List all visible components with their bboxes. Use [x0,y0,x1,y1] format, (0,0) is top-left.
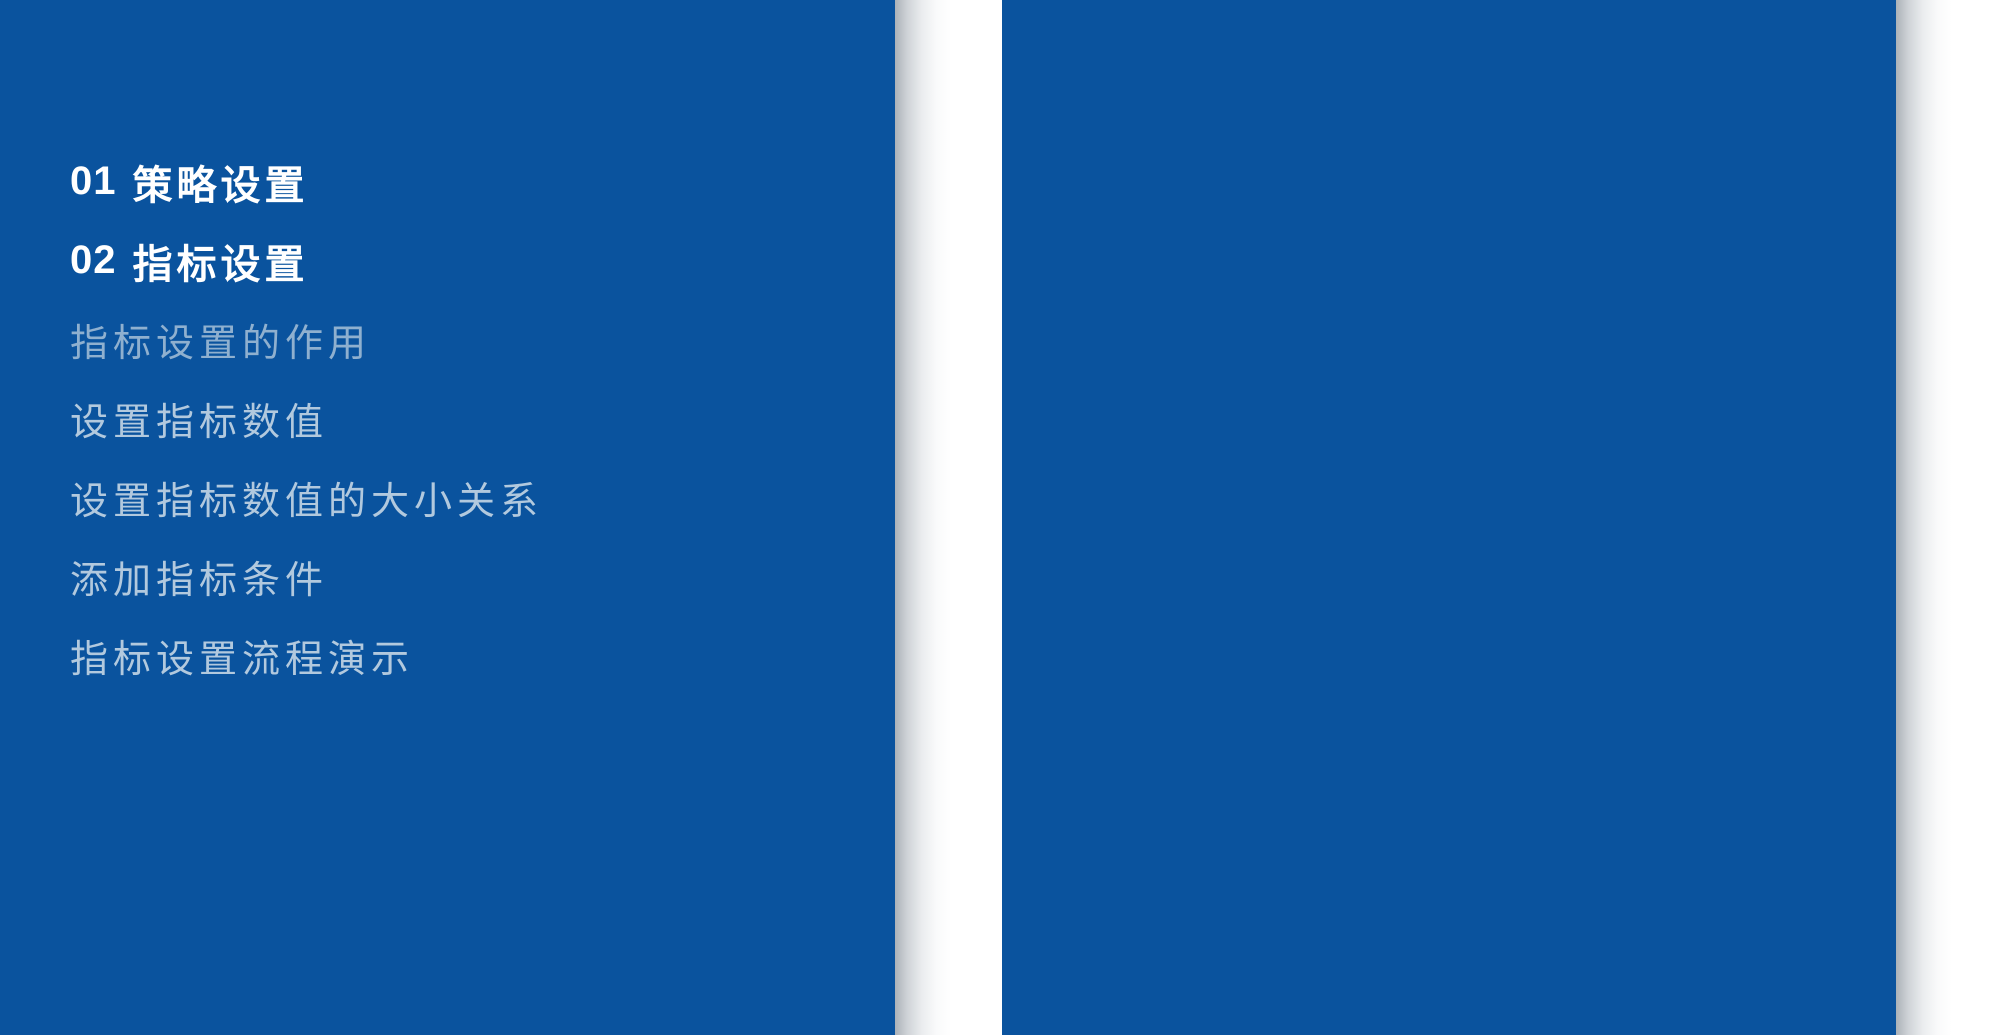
left-heading-01-label: 策略设置 [133,153,309,211]
left-heading-02[interactable]: 02 指标设置 [70,221,543,300]
left-list-item-3-label: 设置指标数值的大小关系 [70,470,543,525]
left-panel-shadow [895,0,951,1035]
left-heading-01[interactable]: 01 策略设置 [70,142,543,221]
left-list-item-1-label: 指标设置的作用 [70,312,371,367]
left-list-item-1[interactable]: 指标设置的作用 [70,300,543,379]
left-heading-02-number: 02 [70,238,117,283]
left-list-item-2-label: 设置指标数值 [70,391,328,446]
left-panel: 01 策略设置 02 指标设置 指标设置的作用 设置指标数值 设置指标数值的大小… [0,0,895,1035]
left-list-item-4[interactable]: 添加指标条件 [70,537,543,616]
slide-root: 01 策略设置 02 指标设置 指标设置的作用 设置指标数值 设置指标数值的大小… [0,0,2003,1035]
right-panel-shadow [1896,0,1952,1035]
left-heading-02-label: 指标设置 [133,232,309,290]
left-list-item-5-label: 指标设置流程演示 [70,628,414,683]
left-list-item-5[interactable]: 指标设置流程演示 [70,616,543,695]
left-list-item-2[interactable]: 设置指标数值 [70,379,543,458]
right-panel: 03 常见的技术指标 MA 移动平均线 EMA 指数平滑移动平均线 MACD 指… [1002,0,1896,1035]
left-list-item-3[interactable]: 设置指标数值的大小关系 [70,458,543,537]
left-outline-list: 01 策略设置 02 指标设置 指标设置的作用 设置指标数值 设置指标数值的大小… [70,142,543,695]
left-list-item-4-label: 添加指标条件 [70,549,328,604]
left-heading-01-number: 01 [70,159,117,204]
